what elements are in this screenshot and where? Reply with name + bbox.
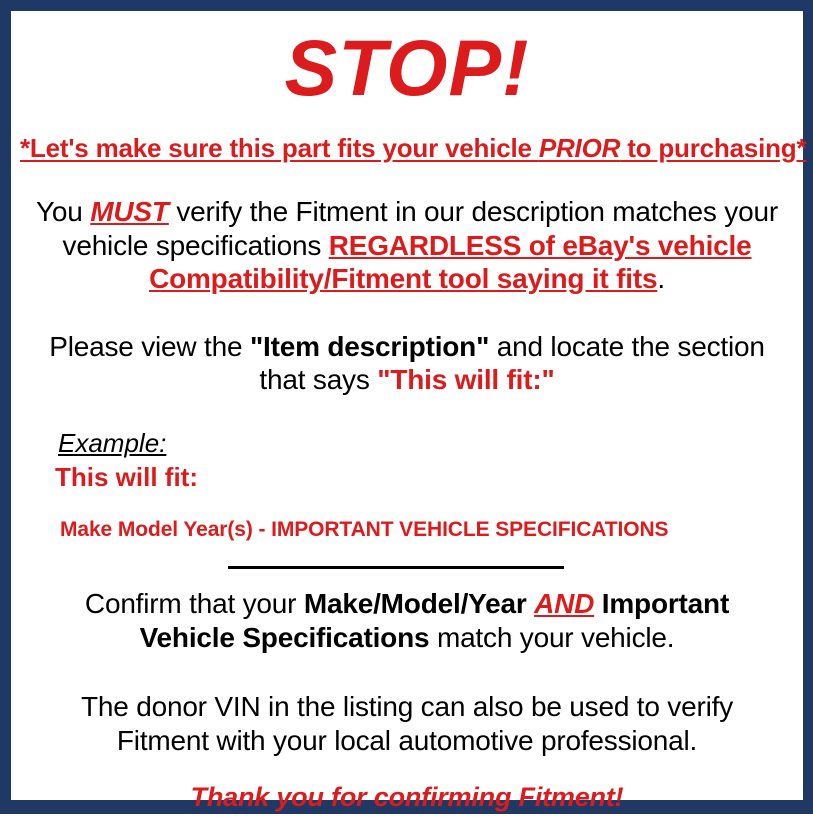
subtitle-emphasis-prior: PRIOR [539, 133, 620, 163]
donor-vin-paragraph: The donor VIN in the listing can also be… [20, 690, 794, 757]
emphasis-must: MUST [90, 196, 169, 227]
example-block: Example: This will fit: Make Model Year(… [20, 429, 794, 542]
example-label-row: Example: [58, 429, 794, 458]
view-paragraph-part1: Please view the [49, 331, 250, 362]
horizontal-rule [228, 566, 564, 569]
red-this-will-fit: "This will fit:" [377, 364, 554, 395]
confirm-paragraph-part1: Confirm that your [85, 588, 304, 619]
example-specification-line: Make Model Year(s) - IMPORTANT VEHICLE S… [60, 518, 794, 542]
page-title: STOP! [20, 28, 794, 107]
subtitle-text-before: *Let's make sure this part fits your veh… [20, 133, 539, 163]
notice-content: STOP! *Let's make sure this part fits yo… [11, 28, 803, 817]
bold-make-model-year: Make/Model/Year [304, 588, 527, 619]
must-paragraph-part1: You [36, 196, 90, 227]
emphasis-and: AND [534, 588, 594, 619]
example-this-will-fit: This will fit: [55, 463, 794, 492]
view-description-paragraph: Please view the "Item description" and l… [20, 330, 794, 397]
confirm-paragraph-part2: match your vehicle. [429, 622, 674, 653]
bold-item-description: "Item description" [250, 331, 489, 362]
confirm-paragraph: Confirm that your Make/Model/Year AND Im… [20, 587, 794, 654]
fitment-notice-card: STOP! *Let's make sure this part fits yo… [0, 0, 813, 814]
must-verify-paragraph: You MUST verify the Fitment in our descr… [20, 195, 794, 296]
thank-you-message: Thank you for confirming Fitment! [20, 782, 794, 813]
notice-subtitle: *Let's make sure this part fits your veh… [20, 133, 794, 164]
must-paragraph-part3: . [657, 263, 665, 294]
example-label: Example: [58, 429, 166, 458]
divider-container [20, 565, 794, 569]
subtitle-text-after: to purchasing* [620, 133, 806, 163]
